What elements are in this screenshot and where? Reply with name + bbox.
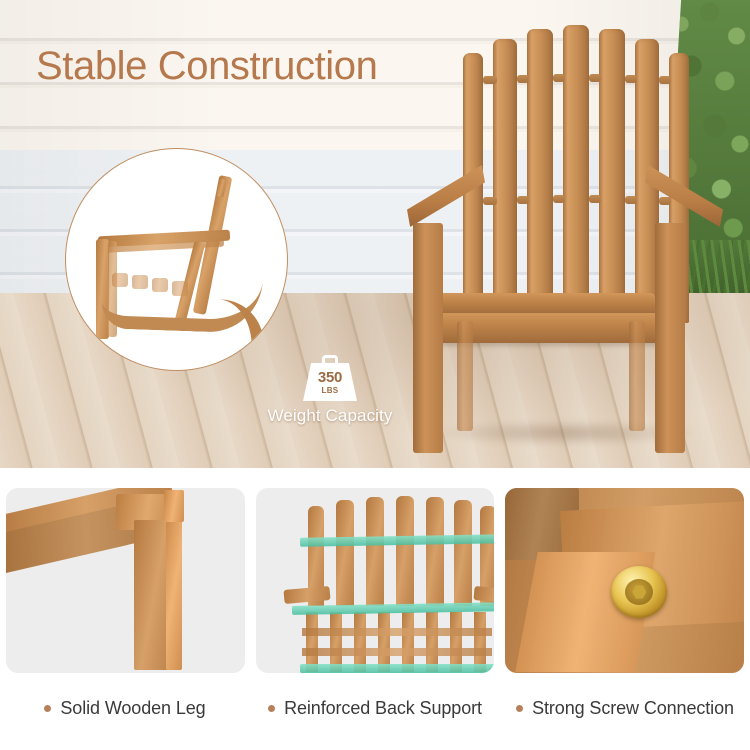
hero-scene: Stable Construction 350 LBS Weight Capac… bbox=[0, 0, 750, 468]
panel-strong-screw-connection bbox=[505, 488, 744, 673]
page-title: Stable Construction bbox=[36, 44, 377, 89]
panel-reinforced-back-support bbox=[256, 488, 495, 673]
caption-solid-wooden-leg: Solid Wooden Leg bbox=[0, 690, 250, 726]
weight-capacity-label: Weight Capacity bbox=[255, 406, 405, 426]
bullet-dot-icon bbox=[44, 705, 51, 712]
chair-side-profile-inset bbox=[65, 148, 288, 371]
adirondack-chair-front bbox=[405, 25, 705, 455]
caption-strong-screw-connection: Strong Screw Connection bbox=[500, 690, 750, 726]
caption-label: Solid Wooden Leg bbox=[60, 698, 205, 719]
weight-unit: LBS bbox=[322, 387, 339, 395]
product-feature-page: Stable Construction 350 LBS Weight Capac… bbox=[0, 0, 750, 750]
weight-capacity-badge: 350 LBS Weight Capacity bbox=[255, 355, 405, 433]
weight-value: 350 bbox=[318, 370, 342, 385]
feature-panels bbox=[0, 488, 750, 673]
bullet-dot-icon bbox=[268, 705, 275, 712]
feature-captions: Solid Wooden Leg Reinforced Back Support… bbox=[0, 690, 750, 726]
weight-body: 350 LBS bbox=[303, 363, 357, 401]
panel-solid-wooden-leg bbox=[6, 488, 245, 673]
caption-label: Strong Screw Connection bbox=[532, 698, 734, 719]
caption-reinforced-back-support: Reinforced Back Support bbox=[250, 690, 500, 726]
bullet-dot-icon bbox=[516, 705, 523, 712]
hex-screw-icon bbox=[611, 566, 667, 618]
support-strap-bottom bbox=[300, 664, 495, 673]
weight-block-icon: 350 LBS bbox=[303, 355, 357, 401]
caption-label: Reinforced Back Support bbox=[284, 698, 482, 719]
